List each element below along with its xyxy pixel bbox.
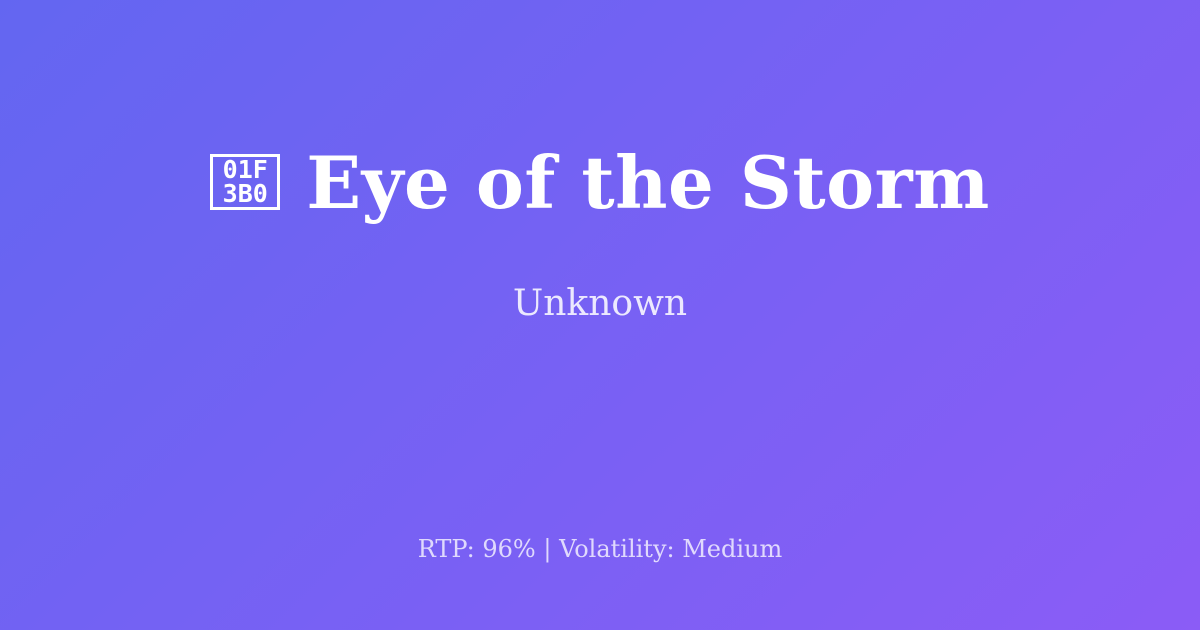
title-row: 01F 3B0 Eye of the Storm — [210, 145, 990, 221]
game-og-card: 01F 3B0 Eye of the Storm Unknown RTP: 96… — [0, 0, 1200, 630]
slot-machine-emoji-icon: 01F 3B0 — [210, 154, 280, 210]
hero-section: 01F 3B0 Eye of the Storm Unknown — [0, 0, 1200, 470]
game-title: Eye of the Storm — [306, 145, 990, 221]
tofu-codepoint-bottom: 3B0 — [223, 182, 268, 207]
game-meta-line: RTP: 96% | Volatility: Medium — [418, 534, 783, 565]
game-provider-subtitle: Unknown — [513, 282, 687, 325]
footer-section: RTP: 96% | Volatility: Medium — [0, 470, 1200, 630]
